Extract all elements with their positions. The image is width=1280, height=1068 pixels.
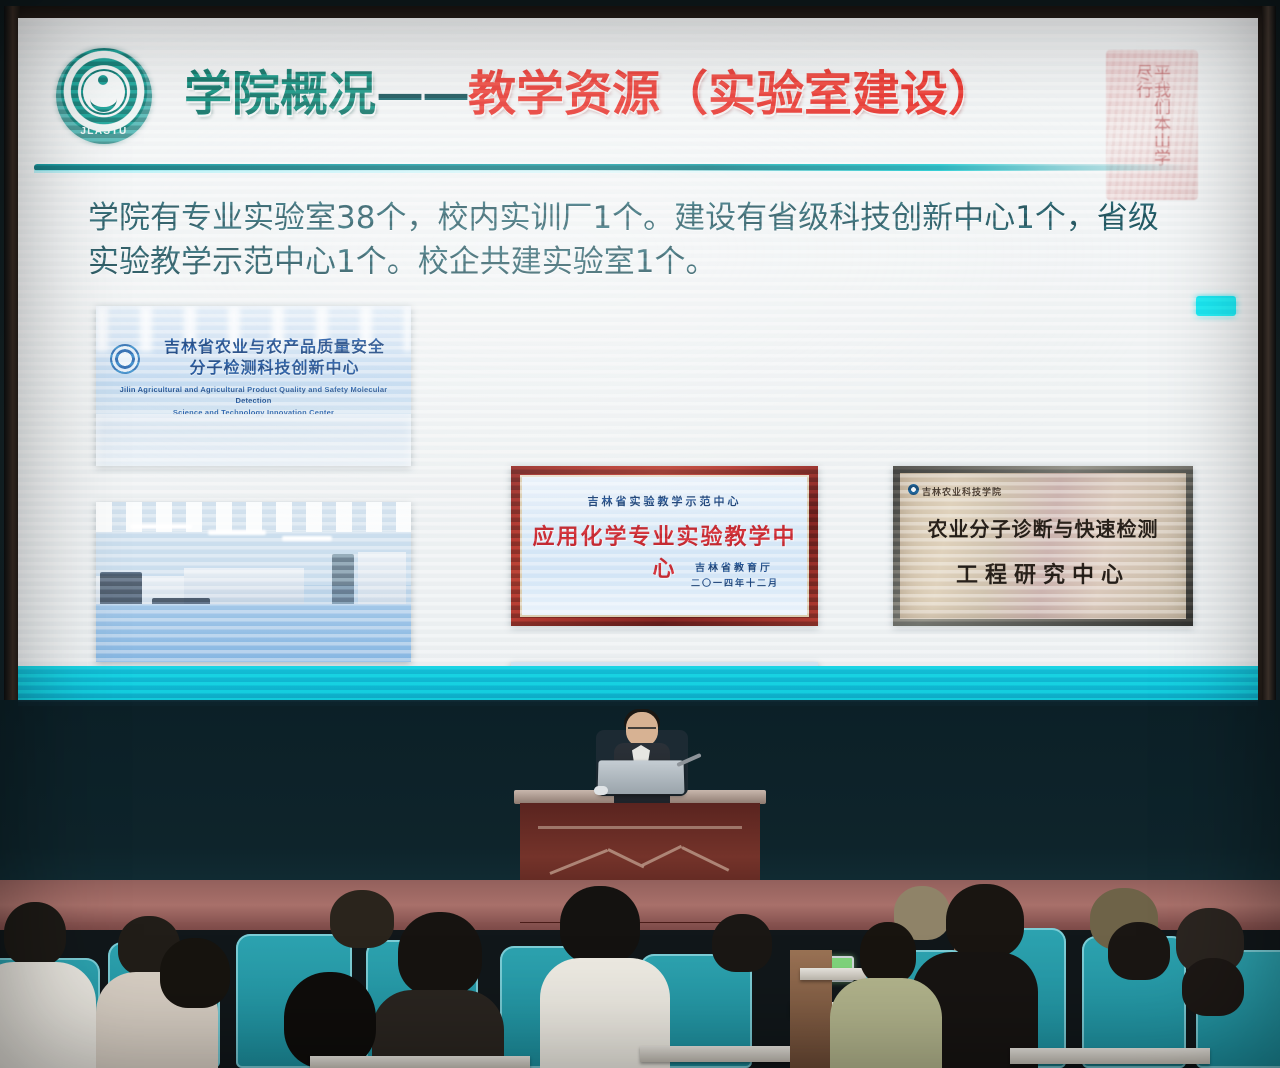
slide-body-text: 学院有专业实验室38个，校内实训厂1个。建设有省级科技创新中心1个，省级实验教学… bbox=[88, 196, 1178, 284]
audience-shoulders bbox=[0, 962, 96, 1068]
audience-head bbox=[946, 884, 1024, 958]
lab1-lamp bbox=[130, 524, 192, 529]
audience-head bbox=[560, 886, 640, 964]
apron-wall bbox=[0, 880, 1280, 922]
sign1-chinese: 吉林省农业与农产品质量安全 分子检测科技创新中心 bbox=[146, 336, 403, 378]
title-dash: —— bbox=[376, 66, 468, 122]
decorative-seal-graphic: 平我们本山学尽行 bbox=[1106, 50, 1198, 200]
audience-head bbox=[284, 972, 376, 1068]
sign1-cn-line1: 吉林省农业与农产品质量安全 bbox=[146, 336, 403, 357]
presenter-laptop bbox=[597, 760, 684, 794]
lectern-chevron-ornament bbox=[550, 842, 730, 876]
cyan-highlight-marker bbox=[1196, 296, 1236, 316]
lab-photo-corridor-benches bbox=[96, 502, 411, 662]
audience-head bbox=[330, 890, 394, 948]
header-divider bbox=[34, 164, 1194, 171]
logo-mark bbox=[81, 69, 127, 115]
grid-row-lab-photos bbox=[78, 502, 1198, 662]
sign1-floor-reflection bbox=[96, 414, 411, 466]
computer-mouse bbox=[594, 786, 608, 795]
audience-head bbox=[860, 922, 916, 984]
lab1-floor bbox=[96, 604, 411, 662]
audience-desk bbox=[310, 1056, 530, 1068]
title-part-green: 学院概况 bbox=[184, 66, 376, 122]
title-part-red: 教学资源（实验室建设） bbox=[468, 66, 996, 122]
sign-innovation-center: 吉林省农业与农产品质量安全 分子检测科技创新中心 Jilin Agricultu… bbox=[96, 306, 411, 466]
logo-abbreviation: JLASTU bbox=[56, 126, 152, 137]
sign-emblem-icon bbox=[110, 344, 140, 374]
lab1-lamp bbox=[282, 536, 332, 541]
seal-text: 平我们本山学尽行 bbox=[1114, 64, 1168, 176]
lecture-hall-photo: JLASTU 学院概况——教学资源（实验室建设） 平我们本山学尽行 学院有专业实… bbox=[0, 0, 1280, 1068]
sign1-cn-line2: 分子检测科技创新中心 bbox=[146, 357, 403, 378]
audience-desk bbox=[1010, 1048, 1210, 1064]
audience-area bbox=[0, 880, 1280, 1068]
presentation-slide: JLASTU 学院概况——教学资源（实验室建设） 平我们本山学尽行 学院有专业实… bbox=[18, 18, 1258, 706]
sign3-institution: 吉林农业科技学院 bbox=[922, 485, 1002, 498]
audience-head bbox=[4, 902, 66, 966]
audience-shoulders bbox=[830, 978, 942, 1068]
audience-head bbox=[1108, 922, 1170, 980]
grid-row-signs: 吉林省农业与农产品质量安全 分子检测科技创新中心 Jilin Agricultu… bbox=[78, 306, 1198, 466]
slide-header: JLASTU 学院概况——教学资源（实验室建设） 平我们本山学尽行 bbox=[18, 18, 1258, 158]
audience-head bbox=[1182, 958, 1244, 1016]
glasses-icon bbox=[628, 727, 656, 735]
audience-head bbox=[398, 912, 482, 996]
lectern-trim-line bbox=[538, 826, 742, 829]
lab1-equipment bbox=[100, 572, 142, 608]
audience-head bbox=[160, 938, 230, 1008]
audience-head bbox=[712, 914, 772, 972]
sign1-english: Jilin Agricultural and Agricultural Prod… bbox=[104, 384, 403, 418]
lab1-lamp bbox=[208, 530, 266, 535]
university-logo-icon: JLASTU bbox=[56, 48, 152, 144]
sign3-emblem-icon bbox=[908, 484, 919, 495]
page-title: 学院概况——教学资源（实验室建设） bbox=[184, 70, 996, 118]
sign1-en-line1: Jilin Agricultural and Agricultural Prod… bbox=[104, 384, 403, 407]
